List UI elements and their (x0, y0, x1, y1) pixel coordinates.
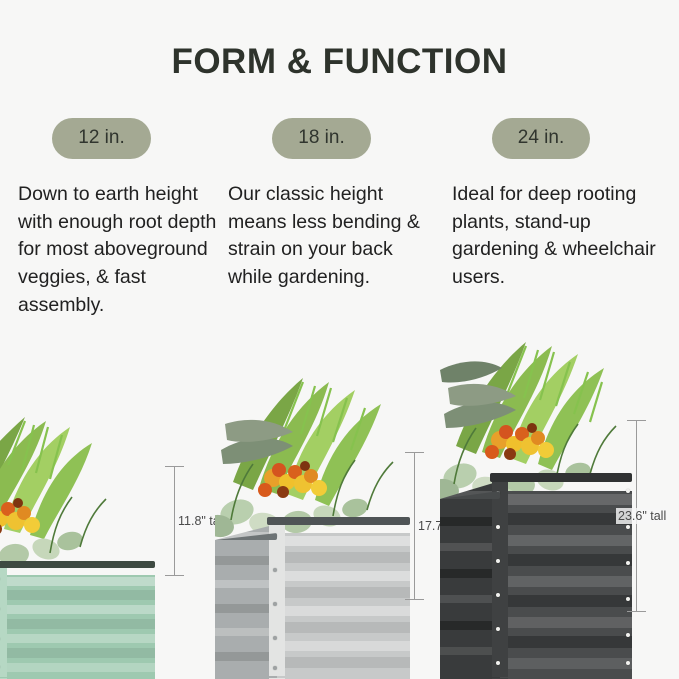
product-photo-row: 11.8" tall (0, 330, 679, 679)
planter-side-charcoal (440, 481, 500, 679)
height-badge-12in: 12 in. (52, 118, 150, 159)
rivet-column-silver (269, 524, 282, 676)
corrugation-side-charcoal (440, 481, 500, 679)
planter-front-charcoal (500, 491, 632, 679)
rivet-column-charcoal (492, 481, 505, 677)
feature-text-24in: Ideal for deep rooting plants, stand-up … (452, 181, 662, 292)
corner-post-charcoal (492, 481, 508, 677)
feature-text-12in: Down to earth height with enough root de… (18, 181, 223, 319)
corrugation-front-green (0, 575, 155, 679)
page-title: FORM & FUNCTION (0, 42, 679, 82)
planter-front-silver (277, 533, 410, 679)
planter-side-silver (215, 524, 277, 679)
height-badge-18in: 18 in. (272, 118, 370, 159)
feature-column-18in: 18 in. Our classic height means less ben… (228, 118, 433, 292)
product-image-silver-planter (215, 354, 410, 679)
feature-text-18in: Our classic height means less bending & … (228, 181, 433, 292)
corner-post-silver (269, 524, 285, 676)
top-rim-green (0, 561, 155, 568)
planter-front-green (0, 575, 155, 679)
badge-wrap-18in: 18 in. (228, 118, 433, 159)
product-image-charcoal-planter (440, 334, 632, 679)
planter-body-silver (215, 524, 410, 679)
corrugation-front-silver (277, 533, 410, 679)
infographic-page: FORM & FUNCTION 12 in. Down to earth hei… (0, 0, 679, 679)
height-badge-24in: 24 in. (492, 118, 590, 159)
corrugation-front-charcoal (500, 491, 632, 679)
top-rim-charcoal (490, 473, 632, 482)
corner-post-green (0, 567, 7, 677)
feature-column-12in: 12 in. Down to earth height with enough … (18, 118, 223, 319)
rivet-column-green (0, 567, 5, 677)
corrugation-side-silver (215, 524, 277, 679)
feature-column-24in: 24 in. Ideal for deep rooting plants, st… (452, 118, 662, 292)
planter-body-charcoal (440, 481, 632, 679)
badge-wrap-12in: 12 in. (18, 118, 223, 159)
top-rim-silver (267, 517, 410, 525)
planter-body-green (0, 567, 155, 679)
measurement-label-charcoal: 23.6" tall (616, 508, 668, 524)
product-image-green-planter (0, 369, 155, 679)
badge-wrap-24in: 24 in. (452, 118, 662, 159)
